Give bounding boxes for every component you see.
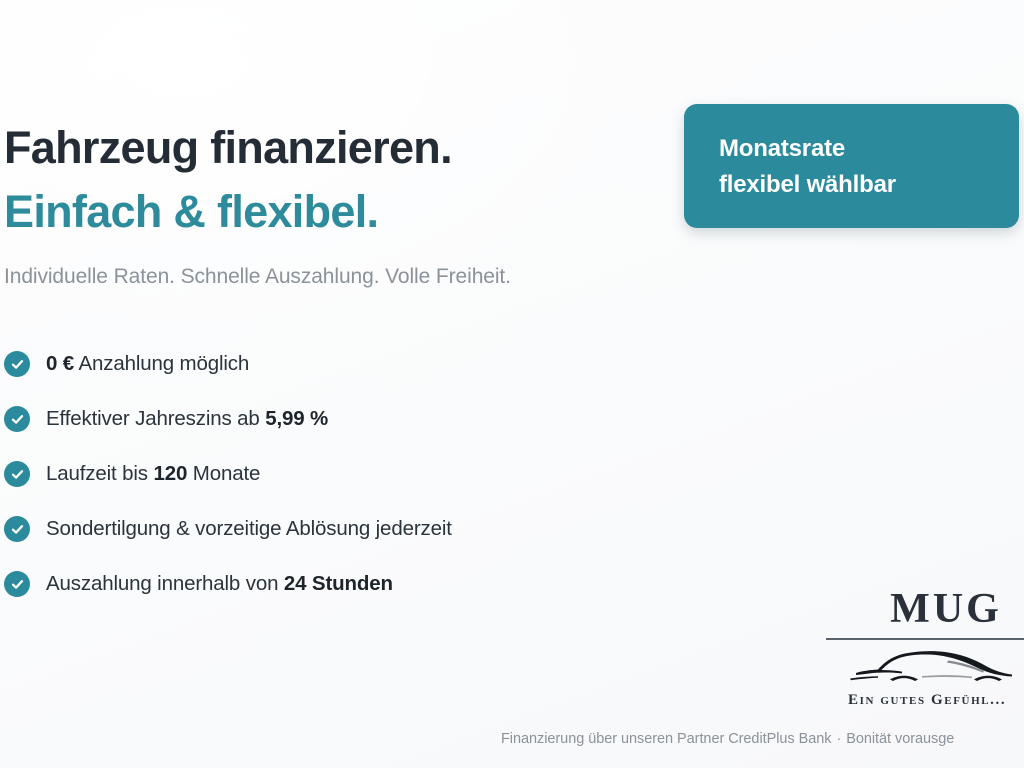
list-item-label: Effektiver Jahreszins ab 5,99 %: [46, 407, 328, 431]
check-circle-icon: [4, 516, 30, 542]
text-post: Anzahlung möglich: [74, 352, 249, 375]
footer-separator: ·: [831, 731, 846, 747]
list-item-label: Auszahlung innerhalb von 24 Stunden: [46, 572, 393, 596]
promo-slide: Fahrzeug finanzieren. Einfach & flexibel…: [0, 0, 1024, 768]
text-bold: 24 Stunden: [284, 572, 393, 595]
list-item: Laufzeit bis 120 Monate: [4, 458, 452, 490]
logo-tagline: Ein gutes Gefühl...: [826, 692, 1024, 709]
headline-line-2: Einfach & flexibel.: [4, 180, 452, 244]
feature-list: 0 € Anzahlung möglich Effektiver Jahresz…: [4, 348, 452, 623]
logo-wordmark: MUG: [826, 588, 1024, 630]
list-item: 0 € Anzahlung möglich: [4, 348, 452, 380]
footer-partner-text: Finanzierung über unseren Partner Credit…: [501, 731, 831, 747]
check-circle-icon: [4, 571, 30, 597]
text-bold: 0 €: [46, 352, 74, 375]
list-item: Effektiver Jahreszins ab 5,99 %: [4, 403, 452, 435]
footer-condition-text: Bonität vorausge: [846, 731, 954, 747]
badge-line-2: flexibel wählbar: [719, 167, 896, 203]
text-post: Monate: [187, 462, 260, 485]
list-item: Auszahlung innerhalb von 24 Stunden: [4, 568, 452, 600]
text-pre: Laufzeit bis: [46, 462, 153, 485]
text-bold: 120: [153, 462, 187, 485]
badge-text: Monatsrate flexibel wählbar: [719, 131, 896, 204]
list-item-label: 0 € Anzahlung möglich: [46, 352, 249, 376]
list-item: Sondertilgung & vorzeitige Ablösung jede…: [4, 513, 452, 545]
check-circle-icon: [4, 406, 30, 432]
check-circle-icon: [4, 351, 30, 377]
text-pre: Sondertilgung & vorzeitige Ablösung jede…: [46, 517, 452, 540]
badge-line-1: Monatsrate: [719, 131, 896, 167]
text-pre: Auszahlung innerhalb von: [46, 572, 284, 595]
footer-disclaimer: Finanzierung über unseren Partner Credit…: [501, 731, 954, 747]
logo-divider: [826, 638, 1024, 640]
text-pre: Effektiver Jahreszins ab: [46, 407, 265, 430]
car-silhouette-icon: [826, 644, 1024, 691]
headline-line-1: Fahrzeug finanzieren.: [4, 116, 452, 180]
monthly-rate-badge: Monatsrate flexibel wählbar: [684, 104, 1019, 228]
brand-logo: MUG Ein gutes Gefühl...: [826, 588, 1024, 709]
list-item-label: Sondertilgung & vorzeitige Ablösung jede…: [46, 517, 452, 541]
subtitle: Individuelle Raten. Schnelle Auszahlung.…: [4, 265, 511, 289]
list-item-label: Laufzeit bis 120 Monate: [46, 462, 260, 486]
check-circle-icon: [4, 461, 30, 487]
page-title: Fahrzeug finanzieren. Einfach & flexibel…: [4, 116, 452, 244]
text-bold: 5,99 %: [265, 407, 328, 430]
